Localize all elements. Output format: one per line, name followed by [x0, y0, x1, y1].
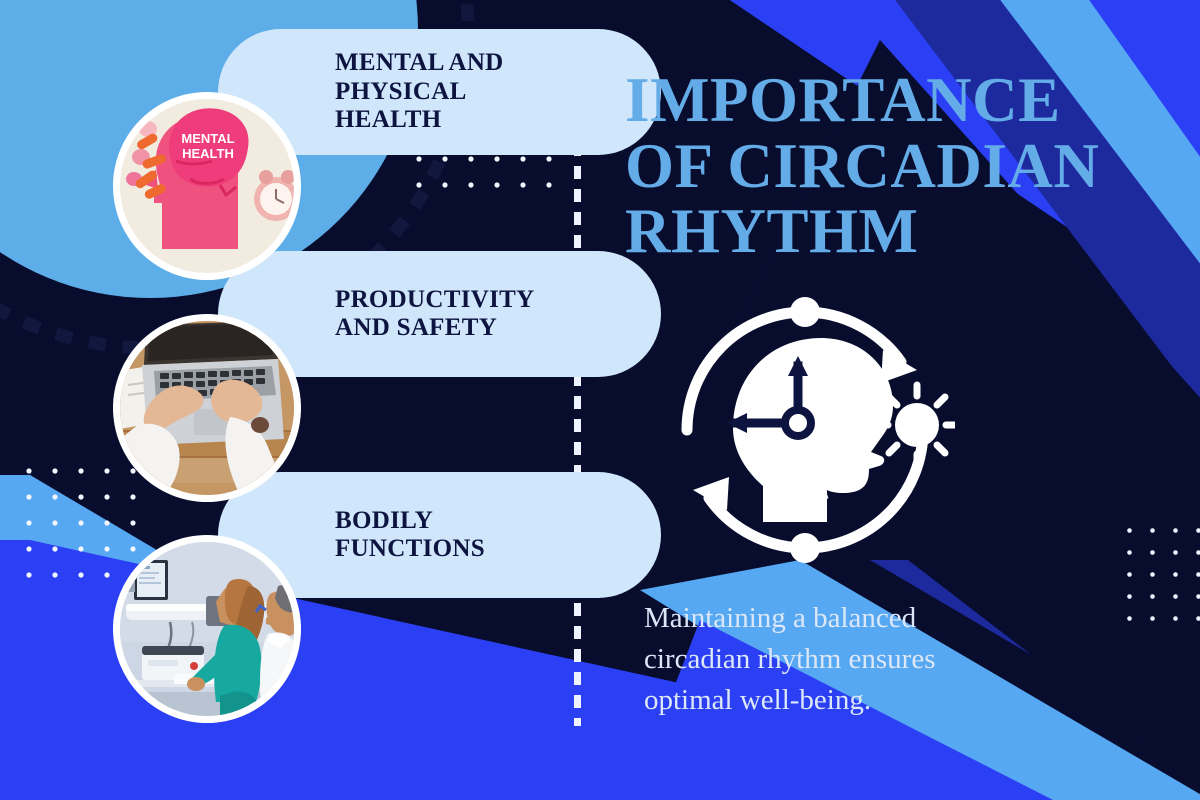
infographic-canvas: Mental and Physical Health	[0, 0, 1200, 800]
item-label-1: Mental and Physical Health	[335, 49, 504, 135]
feature-list: Mental and Physical Health	[0, 0, 574, 800]
bodily-functions-medical-photo	[113, 535, 301, 723]
productivity-laptop-photo	[113, 314, 301, 502]
photo-caption-line2: HEALTH	[182, 146, 234, 161]
crescent-moon-icon	[655, 388, 685, 464]
item-label-2: Productivity and Safety	[335, 286, 534, 343]
item-label-3: Bodily Functions	[335, 507, 485, 564]
right-panel: Importance of Circadian Rhythm	[600, 0, 1200, 800]
vertical-dashed-divider	[574, 74, 581, 726]
circadian-rhythm-head-clock-icon	[655, 280, 955, 570]
photo-caption-line1: MENTAL	[181, 131, 234, 146]
page-title: Importance of Circadian Rhythm	[625, 68, 1145, 265]
mental-health-brain-photo: MENTAL HEALTH	[113, 92, 301, 280]
body-text: Maintaining a balanced circadian rhythm …	[644, 598, 1064, 722]
node-dot-top	[790, 297, 820, 327]
node-dot-bottom	[790, 533, 820, 563]
